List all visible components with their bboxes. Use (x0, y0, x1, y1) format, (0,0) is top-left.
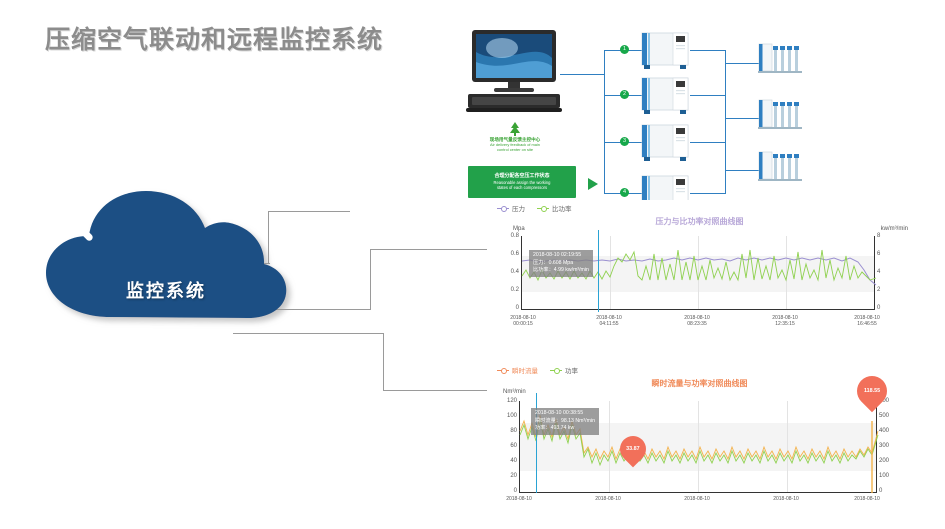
tree-icon (509, 122, 521, 136)
flow-marker-value-2: 118.55 (864, 388, 880, 394)
flow-xtick-0-date: 2018-08-10 (491, 496, 547, 502)
flow-xtick-1: 2018-08-10 (580, 496, 636, 502)
pressure-chart-title: 压力与比功率对照曲线图 (487, 216, 912, 227)
dryer-filter-unit (758, 40, 804, 76)
flow-ytick-left-5: 20 (489, 473, 517, 479)
flow-xtick-0: 2018-08-10 (491, 496, 547, 502)
flow-ytick-right-5: 100 (879, 473, 899, 479)
pressure-xtick-3-time: 12:35:15 (757, 321, 813, 327)
legend-marker-pressure (497, 205, 509, 211)
pressure-xtick-4: 2018-08-10 16:46:55 (839, 315, 895, 328)
pressure-xtick-0-time: 00:00:15 (495, 321, 551, 327)
wire-to-dryers-3 (725, 170, 760, 172)
pressure-xtick-1: 2018-08-10 04:11:55 (581, 315, 637, 328)
right-arrow-icon (588, 178, 598, 190)
legend-marker-flow (497, 367, 509, 373)
flow-ytick-left-1: 100 (489, 413, 517, 419)
pressure-ytick-left-3: 0.2 (493, 287, 519, 293)
pressure-cursor-line[interactable] (598, 230, 599, 312)
legend-item-pressure[interactable]: 压力 (497, 203, 525, 213)
desktop-monitor-icon (464, 28, 564, 120)
pressure-y-unit-right: kw/m³/min (881, 226, 908, 232)
pressure-chart-legend: 压力 比功率 (497, 203, 572, 213)
flow-ytick-right-6: 0 (879, 488, 899, 494)
flow-tooltip-timestamp: 2018-08-10 00:38:55 (535, 410, 595, 418)
wire-collector-3 (690, 142, 726, 144)
pressure-xtick-3: 2018-08-10 12:35:15 (757, 315, 813, 328)
legend-item-flow[interactable]: 瞬时流量 (497, 365, 538, 375)
pressure-xtick-2: 2018-08-10 08:23:35 (669, 315, 725, 328)
pressure-xtick-4-time: 16:46:55 (839, 321, 895, 327)
flow-chart: 瞬时流量 功率 瞬时流量与功率对照曲线图 Nm³/min 120 100 80 … (487, 362, 912, 522)
legend-marker-specific-power (537, 205, 549, 211)
pressure-ytick-right-1: 6 (877, 251, 891, 257)
monitoring-cloud[interactable]: 监控系统 (36, 185, 296, 330)
legend-label-power: 功率 (565, 365, 578, 375)
legend-item-specific-power[interactable]: 比功率 (537, 203, 572, 213)
flow-tooltip: 2018-08-10 00:38:55 瞬时流量：98.13 Nm³/min 功… (531, 408, 599, 435)
legend-item-power[interactable]: 功率 (550, 365, 578, 375)
green-box-en-2: states of each compressors (497, 185, 547, 190)
flow-xtick-1-date: 2018-08-10 (580, 496, 636, 502)
node-label-4: 4 (623, 189, 626, 195)
pressure-xtick-0: 2018-08-10 00:00:15 (495, 315, 551, 328)
dryer-filter-unit (758, 148, 804, 184)
flow-y-unit-left: Nm³/min (503, 389, 526, 395)
connector-line-bottom-h2 (233, 333, 384, 335)
pressure-ytick-right-3: 2 (877, 287, 891, 293)
flow-ytick-left-4: 40 (489, 458, 517, 464)
wire-collector-1 (690, 50, 726, 52)
flow-xtick-2: 2018-08-10 (669, 496, 725, 502)
flow-chart-legend: 瞬时流量 功率 (497, 365, 578, 375)
flow-ytick-right-2: 400 (879, 428, 899, 434)
pressure-ytick-right-4: 0 (877, 305, 891, 311)
pressure-tooltip-timestamp: 2018-08-10 02:19:55 (533, 252, 589, 260)
connector-line-mid-h1 (370, 249, 490, 251)
pressure-tooltip-line1: 压力：0.608 Mpa (533, 260, 589, 268)
flow-xtick-3-date: 2018-08-10 (758, 496, 814, 502)
wire-to-dryers-1 (725, 63, 760, 65)
wire-monitor-to-bus (560, 74, 605, 76)
wire-bus-vertical (604, 50, 606, 194)
flow-ytick-right-4: 200 (879, 458, 899, 464)
flow-xtick-4-date: 2018-08-10 (839, 496, 895, 502)
cloud-label: 监控系统 (36, 277, 296, 303)
flow-xtick-3: 2018-08-10 (758, 496, 814, 502)
pressure-ytick-left-2: 0.4 (493, 269, 519, 275)
page-title: 压缩空气联动和远程监控系统 (45, 20, 383, 56)
flow-tooltip-line2: 功率：493.74 kw (535, 425, 595, 433)
flow-xtick-4: 2018-08-10 (839, 496, 895, 502)
wire-collector-vertical (725, 50, 727, 194)
node-label-3: 3 (623, 138, 626, 144)
flow-ytick-left-6: 0 (489, 488, 517, 494)
magnifier-chart-icon (36, 185, 98, 247)
compressor-unit (640, 31, 692, 71)
pressure-tooltip-line2: 比功率：4.99 kw/m³/min (533, 267, 589, 275)
flow-ytick-right-3: 300 (879, 443, 899, 449)
caption-en-2: control center on site (452, 148, 578, 153)
legend-label-specific-power: 比功率 (552, 203, 572, 213)
connector-line-bottom (383, 333, 385, 391)
pressure-tooltip: 2018-08-10 02:19:55 压力：0.608 Mpa 比功率：4.9… (529, 250, 593, 277)
flow-ytick-right-1: 500 (879, 413, 899, 419)
node-dot-2: 2 (620, 90, 629, 99)
compressor-unit (640, 123, 692, 163)
legend-marker-power (550, 367, 562, 373)
pressure-ytick-left-4: 0 (493, 305, 519, 311)
pressure-ytick-left-1: 0.6 (493, 251, 519, 257)
pressure-ytick-left-0: 0.8 (493, 233, 519, 239)
dryer-filter-unit (758, 96, 804, 132)
wire-collector-2 (690, 95, 726, 97)
node-dot-1: 1 (620, 45, 629, 54)
pressure-ytick-right-0: 8 (877, 233, 891, 239)
flow-marker-value-1: 33.87 (626, 446, 640, 452)
legend-label-flow: 瞬时流量 (512, 365, 538, 375)
topology-caption: 现场用气量反馈主控中心 Air delivery feedback of mai… (452, 137, 578, 152)
pressure-ytick-right-2: 4 (877, 269, 891, 275)
green-status-box: 合理分配各空压工作状态 Reasonable assign the workin… (468, 166, 576, 198)
flow-chart-title: 瞬时流量与功率对照曲线图 (487, 378, 912, 389)
presentation-slide: 压缩空气联动和远程监控系统 监控系统 (0, 0, 945, 529)
flow-xtick-2-date: 2018-08-10 (669, 496, 725, 502)
compressor-unit (640, 76, 692, 116)
legend-label-pressure: 压力 (512, 203, 525, 213)
pressure-xtick-2-time: 08:23:35 (669, 321, 725, 327)
pressure-y-unit-left: Mpa (513, 226, 525, 232)
flow-tooltip-line1: 瞬时流量：98.13 Nm³/min (535, 418, 595, 426)
connector-line-mid (370, 249, 372, 310)
node-label-2: 2 (623, 91, 626, 97)
pressure-xtick-1-time: 04:11:55 (581, 321, 637, 327)
pressure-chart: 压力 比功率 压力与比功率对照曲线图 Mpa kw/m³/min 0.8 0.6… (487, 200, 912, 340)
wire-collector-4 (690, 193, 726, 195)
node-label-1: 1 (623, 46, 626, 52)
node-dot-4: 4 (620, 188, 629, 197)
topology-diagram: 现场用气量反馈主控中心 Air delivery feedback of mai… (440, 18, 940, 203)
flow-ytick-left-2: 80 (489, 428, 517, 434)
wire-to-dryers-2 (725, 118, 760, 120)
flow-ytick-left-3: 60 (489, 443, 517, 449)
flow-ytick-left-0: 120 (489, 398, 517, 404)
connector-line-bottom-h1 (383, 390, 488, 392)
node-dot-3: 3 (620, 137, 629, 146)
